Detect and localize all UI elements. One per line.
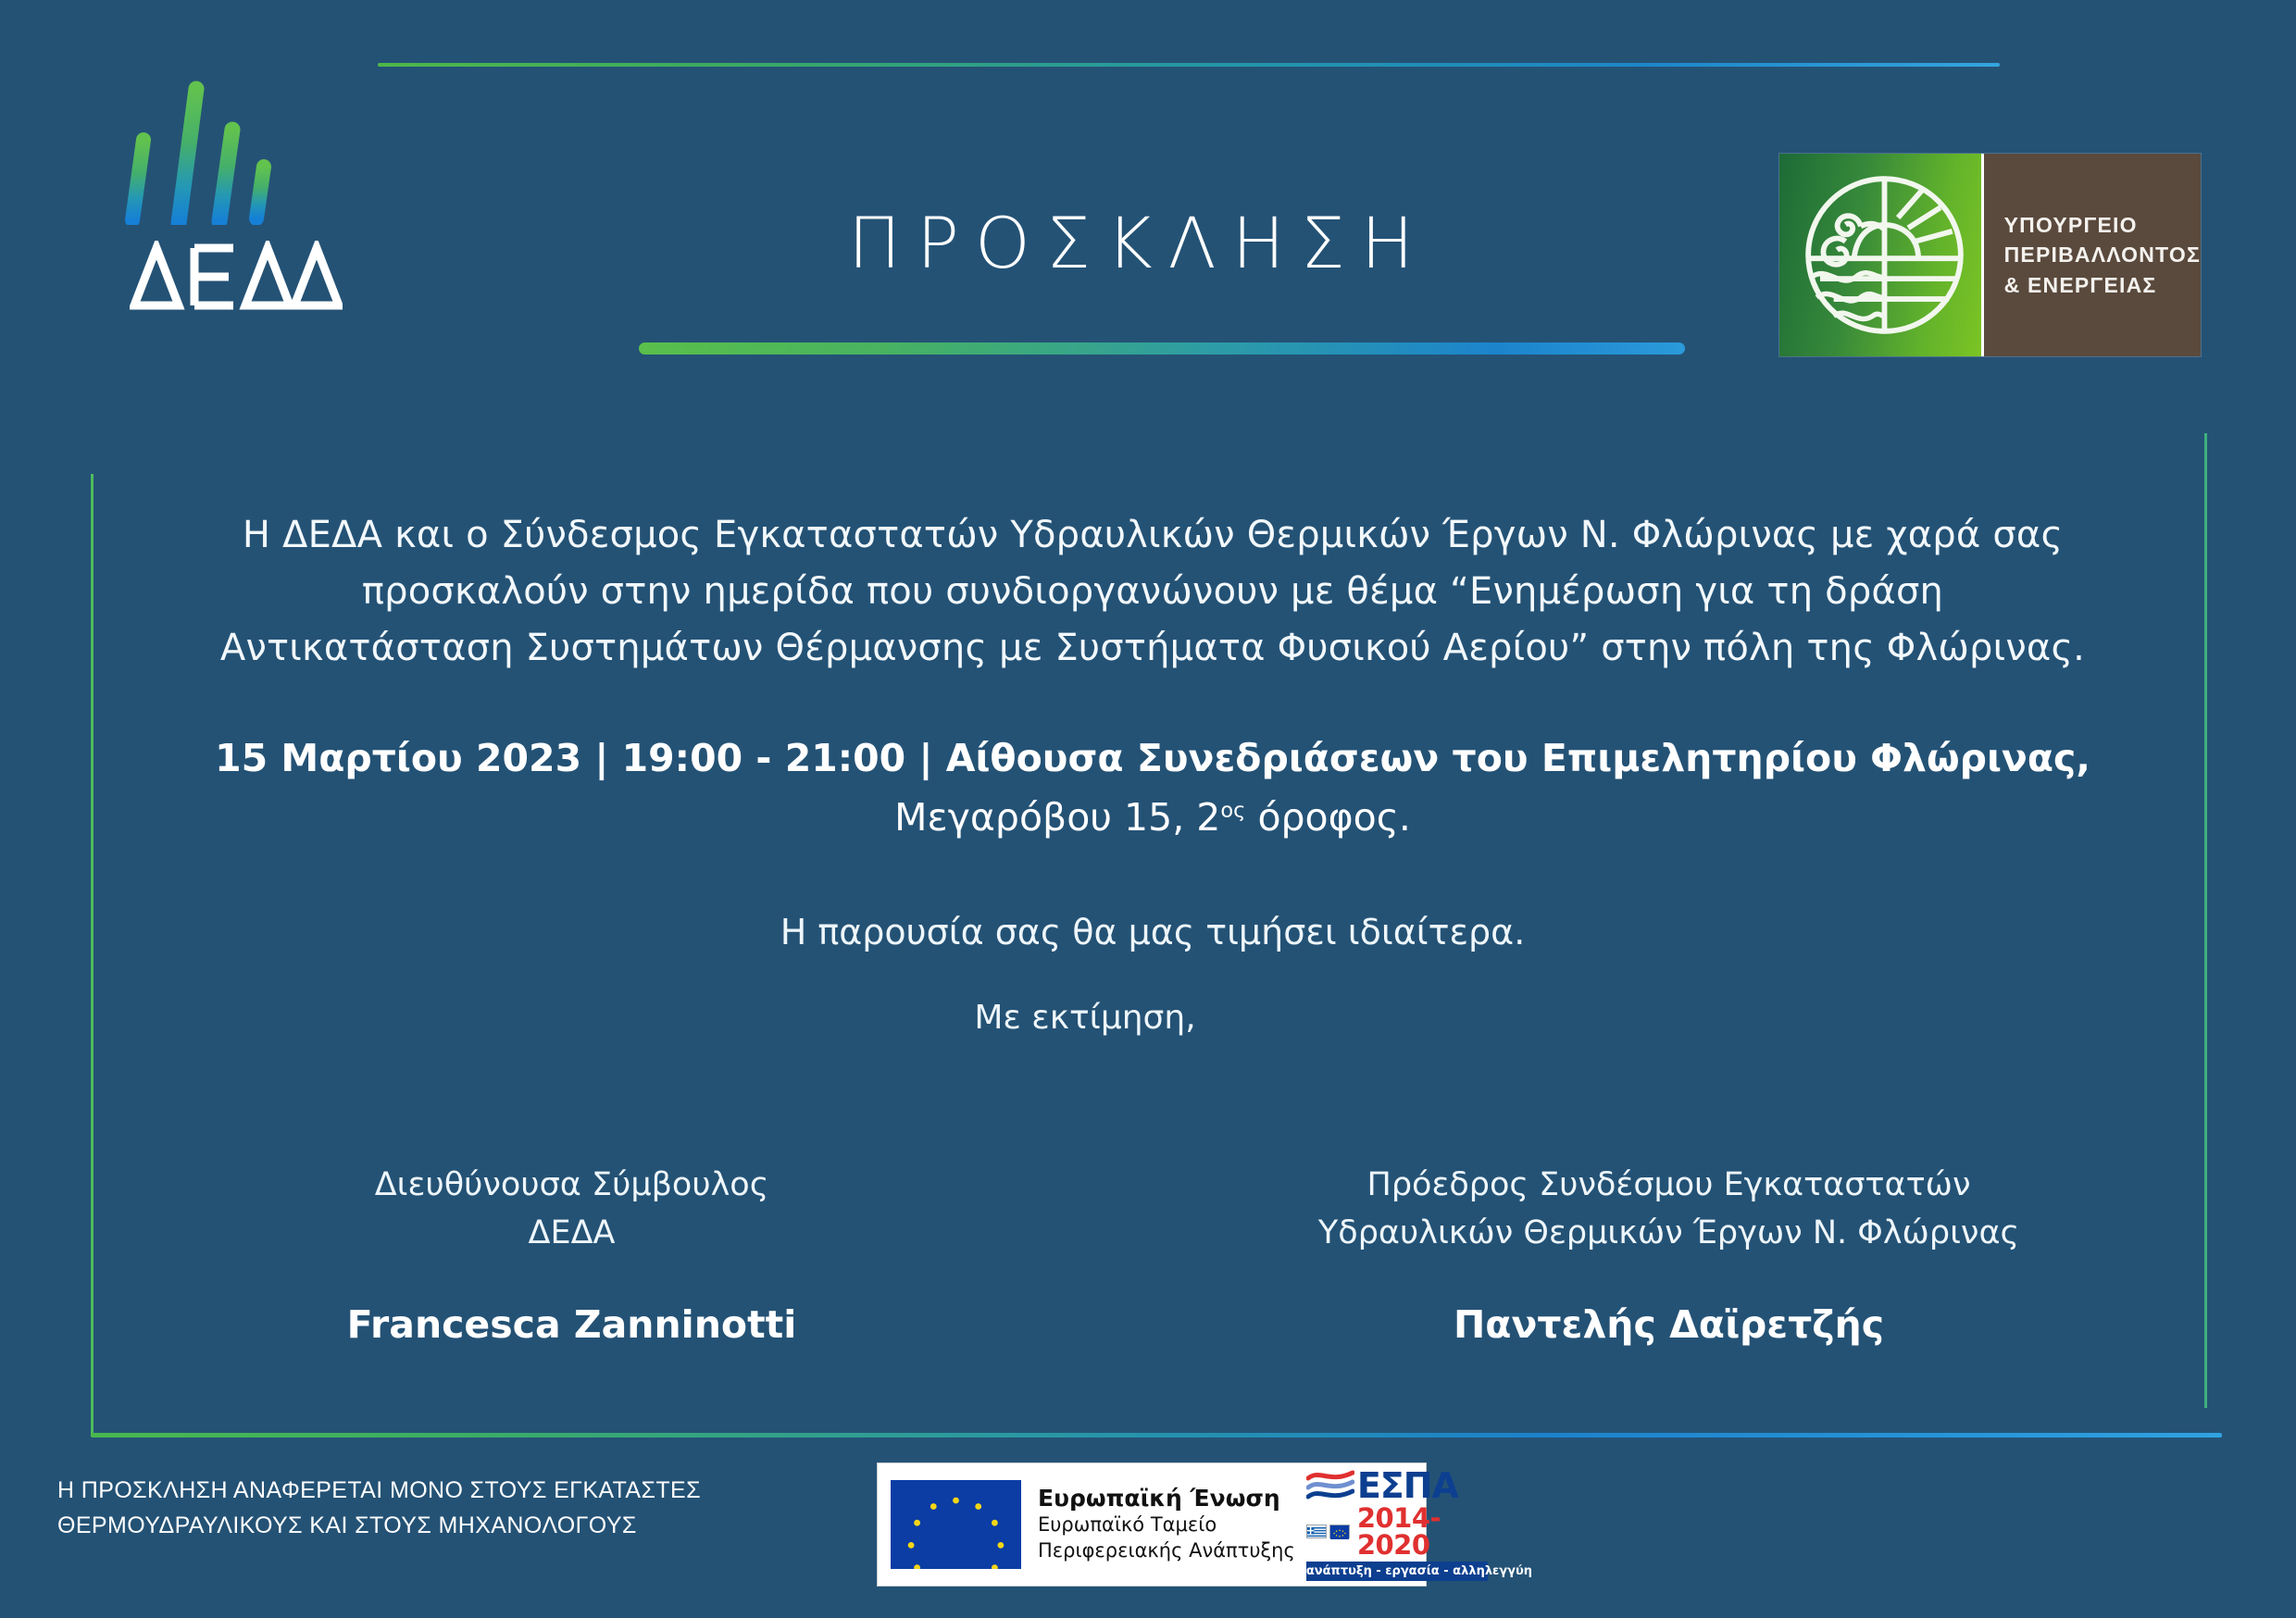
eu-subtitle-1: Ευρωπαϊκό Ταμείο [1038, 1512, 1295, 1538]
event-address-ordinal: ος [1220, 798, 1245, 822]
event-address-pre: Μεγαρόβου 15, 2 [894, 795, 1220, 840]
eu-flag-icon [891, 1480, 1021, 1569]
deda-bars-icon [97, 72, 375, 225]
eu-text-block: Ευρωπαϊκή Ένωση Ευρωπαϊκό Ταμείο Περιφερ… [1038, 1485, 1295, 1563]
closing-line: Η παρουσία σας θα μας τιμήσει ιδιαίτερα. [139, 912, 2166, 952]
espa-wordmark: ΕΣΠΑ [1357, 1469, 1458, 1502]
ministry-logo: ΥΠΟΥΡΓΕΙΟ ΠΕΡΙΒΑΛΛΟΝΤΟΣ & ΕΝΕΡΓΕΙΑΣ [1779, 154, 2201, 356]
eu-stars-icon [891, 1480, 1021, 1569]
ministry-circle-emblem-icon [1800, 170, 1969, 340]
greece-flag-icon [1306, 1525, 1327, 1538]
footer-note-line-1: Η ΠΡΟΣΚΛΗΣΗ ΑΝΑΦΕΡΕΤΑΙ ΜΟΝΟ ΣΤΟΥΣ ΕΓΚΑΤΑ… [57, 1474, 798, 1509]
eu-espa-funding-logo: Ευρωπαϊκή Ένωση Ευρωπαϊκό Ταμείο Περιφερ… [877, 1462, 1427, 1587]
deda-wordmark-icon [130, 241, 343, 311]
signature-role-line-2: ΔΕΔΑ [139, 1210, 1004, 1258]
espa-flag-pair [1306, 1525, 1354, 1538]
event-address: Μεγαρόβου 15, 2ος όροφος. [139, 789, 2166, 848]
event-datetime-venue: 15 Μαρτίου 2023 | 19:00 - 21:00 | Αίθουσ… [139, 729, 2166, 789]
eu-mini-flag-svg [1330, 1527, 1349, 1539]
signature-role-line-1: Πρόεδρος Συνδέσμου Εγκαταστατών [1171, 1162, 2166, 1210]
page-title: ΠΡΟΣΚΛΗΣΗ [593, 208, 1685, 279]
footer-disclaimer: Η ΠΡΟΣΚΛΗΣΗ ΑΝΑΦΕΡΕΤΑΙ ΜΟΝΟ ΣΤΟΥΣ ΕΓΚΑΤΑ… [57, 1474, 798, 1543]
title-gradient-rule [639, 342, 1685, 355]
paragraph-line-2: προσκαλούν στην ημερίδα που συνδιοργανών… [139, 564, 2166, 620]
eu-subtitle-2: Περιφερειακής Ανάπτυξης [1038, 1538, 1295, 1564]
signature-name: Francesca Zanninotti [139, 1302, 1004, 1347]
invitation-body: Η ΔΕΔΑ και ο Σύνδεσμος Εγκαταστατών Υδρα… [139, 507, 2166, 1037]
ministry-line-1: ΥΠΟΥΡΓΕΙΟ [2004, 210, 2201, 241]
espa-top-row: ΕΣΠΑ [1306, 1469, 1488, 1504]
espa-slogan: ανάπτυξη - εργασία - αλληλεγγύη [1306, 1562, 1488, 1581]
eu-mini-flag-icon [1329, 1525, 1350, 1538]
signature-block-right: Πρόεδρος Συνδέσμου Εγκαταστατών Υδραυλικ… [1153, 1162, 2166, 1347]
spacer [139, 952, 2166, 999]
top-gradient-rule [378, 63, 2000, 67]
signature-block-left: Διευθύνουσα Σύμβουλος ΔΕΔΑ Francesca Zan… [139, 1162, 1153, 1347]
ministry-line-2: ΠΕΡΙΒΑΛΛΟΝΤΟΣ [2004, 240, 2201, 270]
regards-line: Με εκτίμηση, [71, 999, 2099, 1037]
espa-mid-row: 2014-2020 [1306, 1505, 1488, 1559]
espa-waves-icon [1306, 1469, 1354, 1504]
left-frame-line [91, 474, 94, 1437]
paragraph-line-3: Αντικατάσταση Συστημάτων Θέρμανσης με Συ… [139, 620, 2166, 677]
signature-name: Παντελής Δαϊρετζής [1171, 1302, 2166, 1347]
espa-years: 2014-2020 [1357, 1505, 1488, 1559]
signature-role-line-1: Διευθύνουσα Σύμβουλος [139, 1162, 1004, 1210]
footer-note-line-2: ΘΕΡΜΟΥΔΡΑΥΛΙΚΟΥΣ ΚΑΙ ΣΤΟΥΣ ΜΗΧΑΝΟΛΟΓΟΥΣ [57, 1509, 798, 1544]
signature-row: Διευθύνουσα Σύμβουλος ΔΕΔΑ Francesca Zan… [139, 1162, 2166, 1347]
right-frame-line [2204, 433, 2207, 1408]
spacer [139, 676, 2166, 729]
deda-logo [97, 72, 375, 267]
event-address-post: όροφος. [1245, 795, 1410, 840]
ministry-text-panel: ΥΠΟΥΡΓΕΙΟ ΠΕΡΙΒΑΛΛΟΝΤΟΣ & ΕΝΕΡΓΕΙΑΣ [1984, 154, 2201, 356]
eu-title: Ευρωπαϊκή Ένωση [1038, 1485, 1295, 1512]
invitation-page: ΠΡΟΣΚΛΗΣΗ [0, 0, 2296, 1618]
ministry-line-3: & ΕΝΕΡΓΕΙΑΣ [2004, 270, 2201, 301]
ministry-emblem-panel [1779, 154, 1984, 356]
title-block: ΠΡΟΣΚΛΗΣΗ [593, 208, 1685, 279]
greece-flag-svg [1307, 1527, 1326, 1538]
deda-wordmark [97, 241, 375, 311]
bottom-gradient-rule [91, 1433, 2222, 1438]
signature-role-line-2: Υδραυλικών Θερμικών Έργων Ν. Φλώρινας [1171, 1210, 2166, 1258]
espa-mark: ΕΣΠΑ [1306, 1469, 1488, 1581]
spacer [139, 847, 2166, 912]
paragraph-line-1: Η ΔΕΔΑ και ο Σύνδεσμος Εγκαταστατών Υδρα… [139, 507, 2166, 564]
